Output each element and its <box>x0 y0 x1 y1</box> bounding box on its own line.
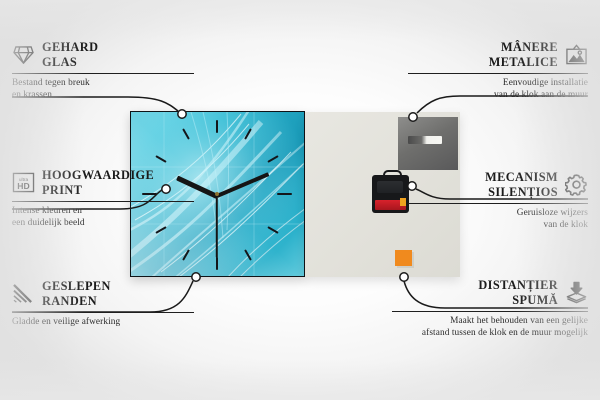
feature-rule <box>12 201 194 202</box>
hanger-slot <box>408 136 442 144</box>
clock-hand-hub <box>215 192 219 196</box>
feature-title-line1: MÂNERE <box>489 40 558 55</box>
feature-subtitle-line1: Gladde en veilige afwerking <box>12 317 194 329</box>
feature-gehard-glas: GEHARD GLAS Bestand tegen breuk en krass… <box>12 40 194 101</box>
gear-icon <box>565 173 588 196</box>
feature-heading: ultra HD HOOGWAARDIGE PRINT <box>12 168 194 197</box>
battery <box>375 200 406 210</box>
clock-mechanism <box>372 175 409 213</box>
feature-title-line1: GEHARD <box>42 40 98 55</box>
feature-title-line1: MECANISM <box>485 170 558 185</box>
infographic-canvas: GEHARD GLAS Bestand tegen breuk en krass… <box>0 0 600 400</box>
feature-heading: GESLEPEN RANDEN <box>12 279 194 308</box>
picture-frame-icon <box>565 43 588 66</box>
clock-tick <box>216 257 218 270</box>
mechanism-hook <box>383 170 402 180</box>
clock-tick <box>277 193 292 195</box>
feature-subtitle-line1: Intense kleuren en <box>12 206 194 218</box>
feature-title-line2: SILENȚIOS <box>485 185 558 200</box>
feature-subtitle-line1: Bestand tegen breuk <box>12 78 194 90</box>
feature-title-line2: SPUMĂ <box>478 293 558 308</box>
feature-rule <box>408 73 588 74</box>
ultra-hd-icon: ultra HD <box>12 171 35 194</box>
feature-subtitle-line1: Maakt het behouden van een gelijke <box>392 316 588 328</box>
feature-geslepen-randen: GESLEPEN RANDEN Gladde en veilige afwerk… <box>12 279 194 329</box>
feature-subtitle-line2: een duidelijk beeld <box>12 218 194 230</box>
feature-title-line2: PRINT <box>42 183 154 198</box>
svg-text:HD: HD <box>17 181 29 191</box>
clock-second-hand <box>216 196 218 258</box>
bevelled-edges-icon <box>12 282 35 305</box>
spacer-down-arrow-icon <box>565 281 588 304</box>
feature-title-line1: HOOGWAARDIGE <box>42 168 154 183</box>
feature-mecanism-silentios: MECANISM SILENȚIOS Geruisloze wijzers va… <box>408 170 588 231</box>
foam-spacer <box>395 250 412 266</box>
feature-subtitle-line2: van de klok aan de muur <box>408 90 588 102</box>
feature-rule <box>12 73 194 74</box>
mechanism-body <box>377 181 403 193</box>
feature-heading: DISTANȚIER SPUMĂ <box>392 278 588 307</box>
clock-tick <box>216 120 218 133</box>
feature-manere-metalice: MÂNERE METALICE Eenvoudige installatie v… <box>408 40 588 101</box>
feature-distantier-spuma: DISTANȚIER SPUMĂ Maakt het behouden van … <box>392 278 588 339</box>
feature-hoogwaardige-print: ultra HD HOOGWAARDIGE PRINT Intense kleu… <box>12 168 194 229</box>
feature-rule <box>12 312 194 313</box>
feature-subtitle-line1: Eenvoudige installatie <box>408 78 588 90</box>
feature-title-line2: RANDEN <box>42 294 111 309</box>
feature-heading: MECANISM SILENȚIOS <box>408 170 588 199</box>
diamond-icon <box>12 43 35 66</box>
metal-hanger-plate <box>398 117 458 170</box>
feature-subtitle-line2: afstand tussen de klok en de muur mogeli… <box>392 328 588 340</box>
feature-rule <box>408 203 588 204</box>
feature-subtitle-line1: Geruisloze wijzers <box>408 208 588 220</box>
feature-title-line1: DISTANȚIER <box>478 278 558 293</box>
feature-heading: MÂNERE METALICE <box>408 40 588 69</box>
feature-title-line2: METALICE <box>489 55 558 70</box>
feature-subtitle-line2: van de klok <box>408 220 588 232</box>
feature-rule <box>392 311 588 312</box>
feature-title-line1: GESLEPEN <box>42 279 111 294</box>
feature-subtitle-line2: en krassen <box>12 90 194 102</box>
feature-title-line2: GLAS <box>42 55 98 70</box>
feature-heading: GEHARD GLAS <box>12 40 194 69</box>
